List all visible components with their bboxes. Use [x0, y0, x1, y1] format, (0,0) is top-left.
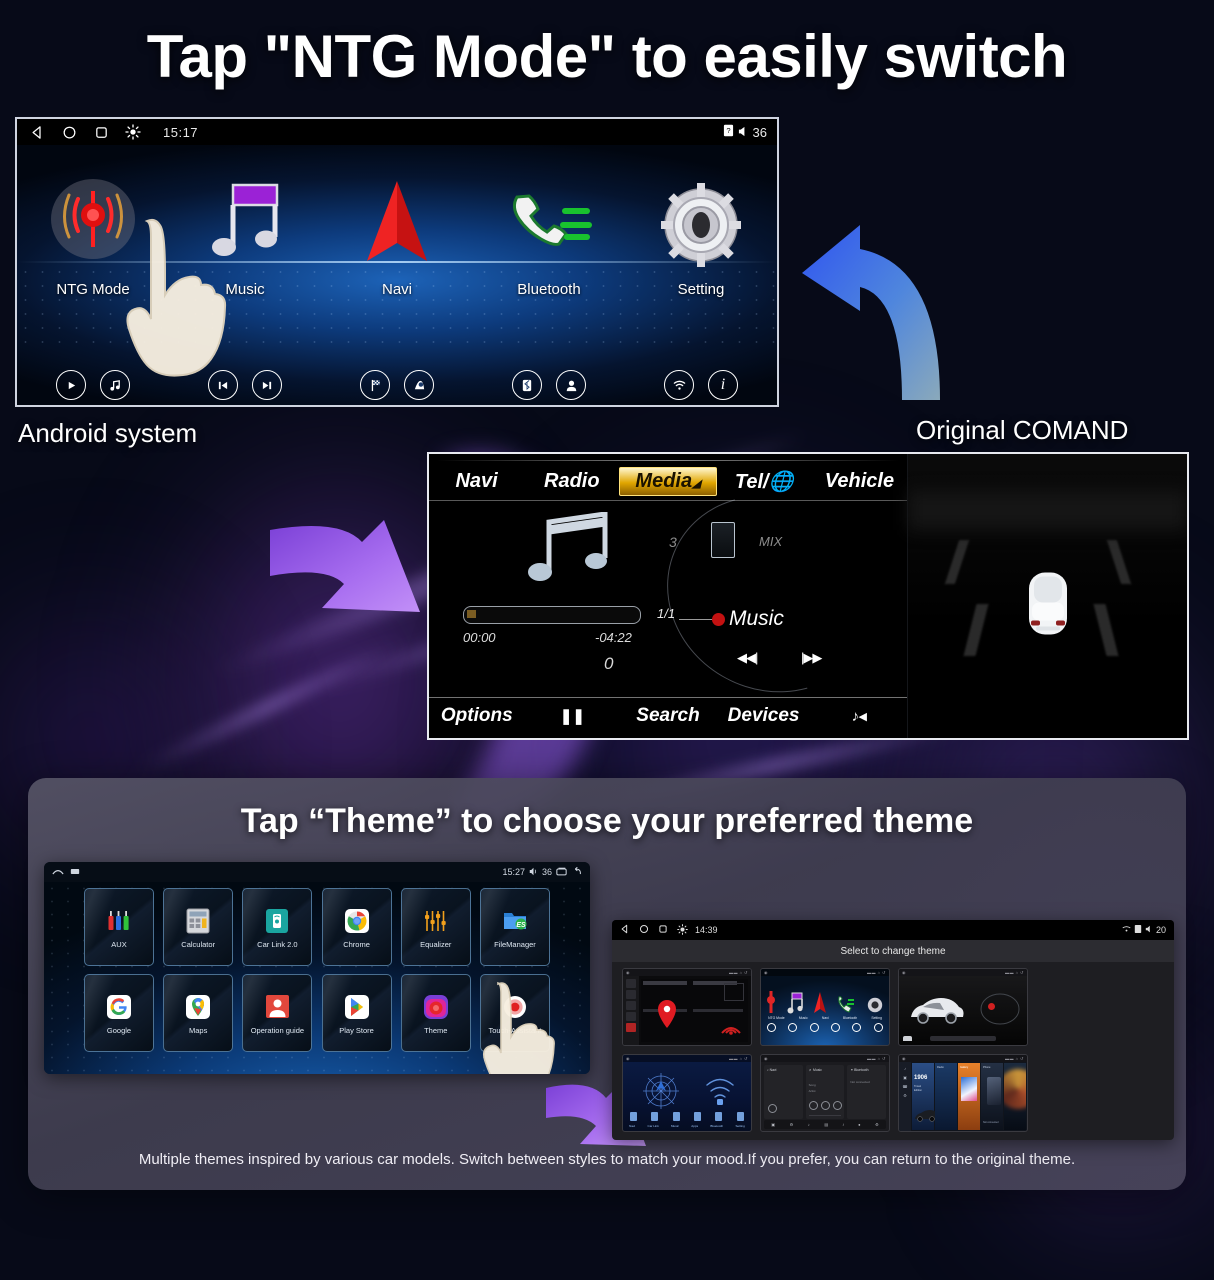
svg-text:ES: ES — [516, 922, 526, 929]
calculator-icon — [183, 906, 213, 936]
comand-media-screen: Navi Radio Media◢ Tel/🌐 Vehicle 3 MIX 00… — [429, 454, 907, 738]
brightness-sun-icon[interactable] — [123, 122, 143, 142]
car-top-view-icon — [1011, 565, 1085, 650]
navigation-arrow-icon — [361, 175, 433, 267]
comand-devices-button[interactable]: Devices — [716, 705, 812, 727]
svg-text:?: ? — [726, 126, 730, 135]
comand-menu-navi[interactable]: Navi — [429, 470, 524, 493]
theme-chooser-subtitle: Select to change theme — [612, 940, 1174, 962]
app-grid-clock: 15:27 — [502, 867, 525, 877]
operation-guide-icon — [262, 992, 292, 1022]
android-status-bar: 15:17 ? 36 — [17, 119, 777, 145]
app-tile-filemanager[interactable]: ES FileManager — [480, 888, 550, 966]
back-triangle-icon[interactable] — [27, 122, 47, 142]
status-clock: 15:17 — [163, 125, 198, 140]
theme-thumb-magazine[interactable]: ◉▬▬ ⌂ ↺ ♪▣ ☎⚙ 1906 Travel Edition Radio … — [898, 1054, 1028, 1132]
android-app-navi[interactable]: Navi — [321, 175, 473, 298]
theme-chooser-clock: 14:39 — [695, 925, 718, 935]
hand-tap-icon — [474, 980, 559, 1074]
comand-track-index: 3 — [669, 534, 677, 550]
app-tile-label: Car Link 2.0 — [257, 941, 297, 949]
contacts-icon[interactable] — [556, 370, 586, 400]
comand-menu-tel-label: Tel/ — [735, 471, 769, 493]
comand-elapsed-time: 00:00 — [463, 630, 496, 645]
android-app-label: Navi — [382, 281, 412, 298]
volume-level: 36 — [753, 125, 767, 140]
app-tile-theme[interactable]: Theme — [401, 974, 471, 1052]
android-app-grid-unit: 15:27 36 — [44, 862, 590, 1074]
car-link-icon — [262, 906, 292, 936]
comand-head-unit: Navi Radio Media◢ Tel/🌐 Vehicle 3 MIX 00… — [427, 452, 1189, 740]
app-tile-label: Theme — [424, 1027, 447, 1035]
maps-pin-icon — [183, 992, 213, 1022]
app-grid-volume: 36 — [542, 867, 552, 877]
comand-car-view — [907, 454, 1187, 738]
app-tile-maps[interactable]: Maps — [163, 974, 233, 1052]
comand-options-button[interactable]: Options — [429, 705, 525, 727]
sd-card-icon: ? — [723, 124, 734, 140]
bluetooth-device-icon[interactable] — [512, 370, 542, 400]
bluetooth-phone-icon — [501, 175, 597, 267]
comand-menu-media[interactable]: Media◢ — [619, 467, 716, 496]
theme-chooser-volume: 20 — [1156, 925, 1166, 935]
comand-search-button[interactable]: Search — [620, 705, 716, 727]
theme-thumb-navigation-map[interactable]: ◉▬▬ ⌂ ↺ — [622, 968, 752, 1046]
device-icon — [711, 522, 735, 558]
android-app-setting[interactable]: Setting — [625, 175, 777, 298]
next-track-icon[interactable]: |▶▶ — [801, 650, 821, 666]
play-icon[interactable] — [56, 370, 86, 400]
app-tile-aux[interactable]: AUX — [84, 888, 154, 966]
app-tile-label: Chrome — [343, 941, 370, 949]
gear-icon — [659, 175, 743, 267]
android-head-unit: 15:17 ? 36 — [15, 117, 779, 407]
comand-progress-bar[interactable] — [463, 606, 641, 624]
label-android-system: Android system — [18, 418, 197, 449]
app-tile-label: Play Store — [339, 1027, 374, 1035]
app-tile-label: Equalizer — [420, 941, 451, 949]
cast-icon[interactable] — [70, 867, 80, 878]
theme-chooser-unit: 14:39 20 Select to change theme ◉▬▬ ⌂ ↺ — [612, 920, 1174, 1140]
app-tile-google[interactable]: Google — [84, 974, 154, 1052]
page-title: Tap "NTG Mode" to easily switch — [0, 22, 1214, 91]
recents-icon[interactable] — [556, 867, 567, 878]
wifi-icon[interactable] — [664, 370, 694, 400]
app-tile-operation-guide[interactable]: Operation guide — [242, 974, 312, 1052]
aux-jack-icon — [104, 906, 134, 936]
comand-source-label: Music — [729, 607, 784, 631]
app-tile-label: Maps — [189, 1027, 207, 1035]
volume-icon — [738, 125, 749, 140]
sd-card-icon — [1134, 924, 1142, 936]
android-home-screen: NTG Mode Music — [17, 145, 777, 405]
mute-note-icon[interactable]: ♪◂ — [811, 707, 907, 725]
comand-remaining-time: -04:22 — [595, 630, 632, 645]
file-manager-icon: ES — [500, 906, 530, 936]
comand-menu-bar: Navi Radio Media◢ Tel/🌐 Vehicle — [429, 464, 907, 498]
app-tile-calculator[interactable]: Calculator — [163, 888, 233, 966]
theme-section-title: Tap “Theme” to choose your preferred the… — [28, 802, 1186, 841]
app-grid-row-1: AUX Calculator — [84, 888, 550, 966]
brightness-sun-icon[interactable] — [677, 924, 688, 937]
comand-track-count: 1/1 — [657, 606, 675, 621]
back-triangle-icon[interactable] — [620, 924, 630, 936]
app-tile-car-link[interactable]: Car Link 2.0 — [242, 888, 312, 966]
app-tile-chrome[interactable]: Chrome — [322, 888, 392, 966]
theme-icon — [421, 992, 451, 1022]
equalizer-icon — [421, 906, 451, 936]
android-app-label: Setting — [678, 281, 725, 298]
theme-thumb-dark-cards[interactable]: ◉▬▬ ⌂ ↺ ♪ Navi ♬ Music Song Artist — [760, 1054, 890, 1132]
volume-icon — [1145, 925, 1153, 935]
google-icon — [104, 992, 134, 1022]
wifi-icon — [1122, 925, 1131, 935]
arrow-to-comand — [790, 215, 980, 420]
back-icon[interactable] — [571, 867, 582, 878]
volume-icon — [529, 867, 538, 878]
app-tile-label: Google — [107, 1027, 131, 1035]
next-track-icon[interactable] — [252, 370, 282, 400]
android-app-label: Bluetooth — [517, 281, 580, 298]
theme-thumb-audi-car[interactable]: ◉▬▬ ⌂ ↺ — [898, 968, 1028, 1046]
app-tile-label: Operation guide — [251, 1027, 304, 1035]
comand-mix-label: MIX — [759, 534, 782, 549]
theme-thumbnail-grid: ◉▬▬ ⌂ ↺ ◉▬▬ ⌂ ↺ — [622, 968, 1164, 1140]
chevron-down-icon: ◢ — [692, 478, 700, 490]
arrow-to-media — [270, 500, 430, 655]
comand-menu-radio[interactable]: Radio — [524, 470, 619, 493]
hand-tap-icon — [113, 215, 233, 405]
recents-square-icon[interactable] — [91, 122, 111, 142]
theme-thumb-blue-icons[interactable]: ◉▬▬ ⌂ ↺ NTG ModeMusic NaviBluetooth Sett… — [760, 968, 890, 1046]
globe-icon: 🌐 — [769, 471, 794, 493]
info-icon[interactable]: i — [708, 370, 738, 400]
comand-menu-tel[interactable]: Tel/🌐 — [717, 469, 812, 494]
music-note-icon — [515, 512, 635, 584]
flag-destination-icon[interactable] — [360, 370, 390, 400]
home-icon[interactable] — [52, 867, 64, 878]
pause-icon[interactable]: ❚❚ — [525, 707, 621, 725]
app-tile-equalizer[interactable]: Equalizer — [401, 888, 471, 966]
app-tile-label: Calculator — [181, 941, 215, 949]
comand-menu-vehicle[interactable]: Vehicle — [812, 470, 907, 493]
comand-source-dot — [712, 613, 725, 626]
home-circle-icon[interactable] — [639, 924, 649, 936]
theme-thumb-blue-wireframe[interactable]: ◉▬▬ ⌂ ↺ — [622, 1054, 752, 1132]
app-tile-play-store[interactable]: Play Store — [322, 974, 392, 1052]
android-app-bluetooth[interactable]: Bluetooth — [473, 175, 625, 298]
app-tile-label: AUX — [111, 941, 126, 949]
comand-position: 0 — [604, 654, 613, 674]
app-tile-label: FileManager — [494, 941, 536, 949]
theme-chooser-status-bar: 14:39 20 — [612, 920, 1174, 940]
app-grid-status-bar: 15:27 36 — [44, 862, 590, 882]
recents-square-icon[interactable] — [658, 924, 668, 936]
home-circle-icon[interactable] — [59, 122, 79, 142]
comand-menu-media-label: Media — [635, 470, 692, 492]
comand-bottom-bar: Options ❚❚ Search Devices ♪◂ — [429, 700, 907, 732]
map-pin-icon[interactable] — [404, 370, 434, 400]
previous-track-icon[interactable]: ◀◀| — [737, 650, 757, 666]
